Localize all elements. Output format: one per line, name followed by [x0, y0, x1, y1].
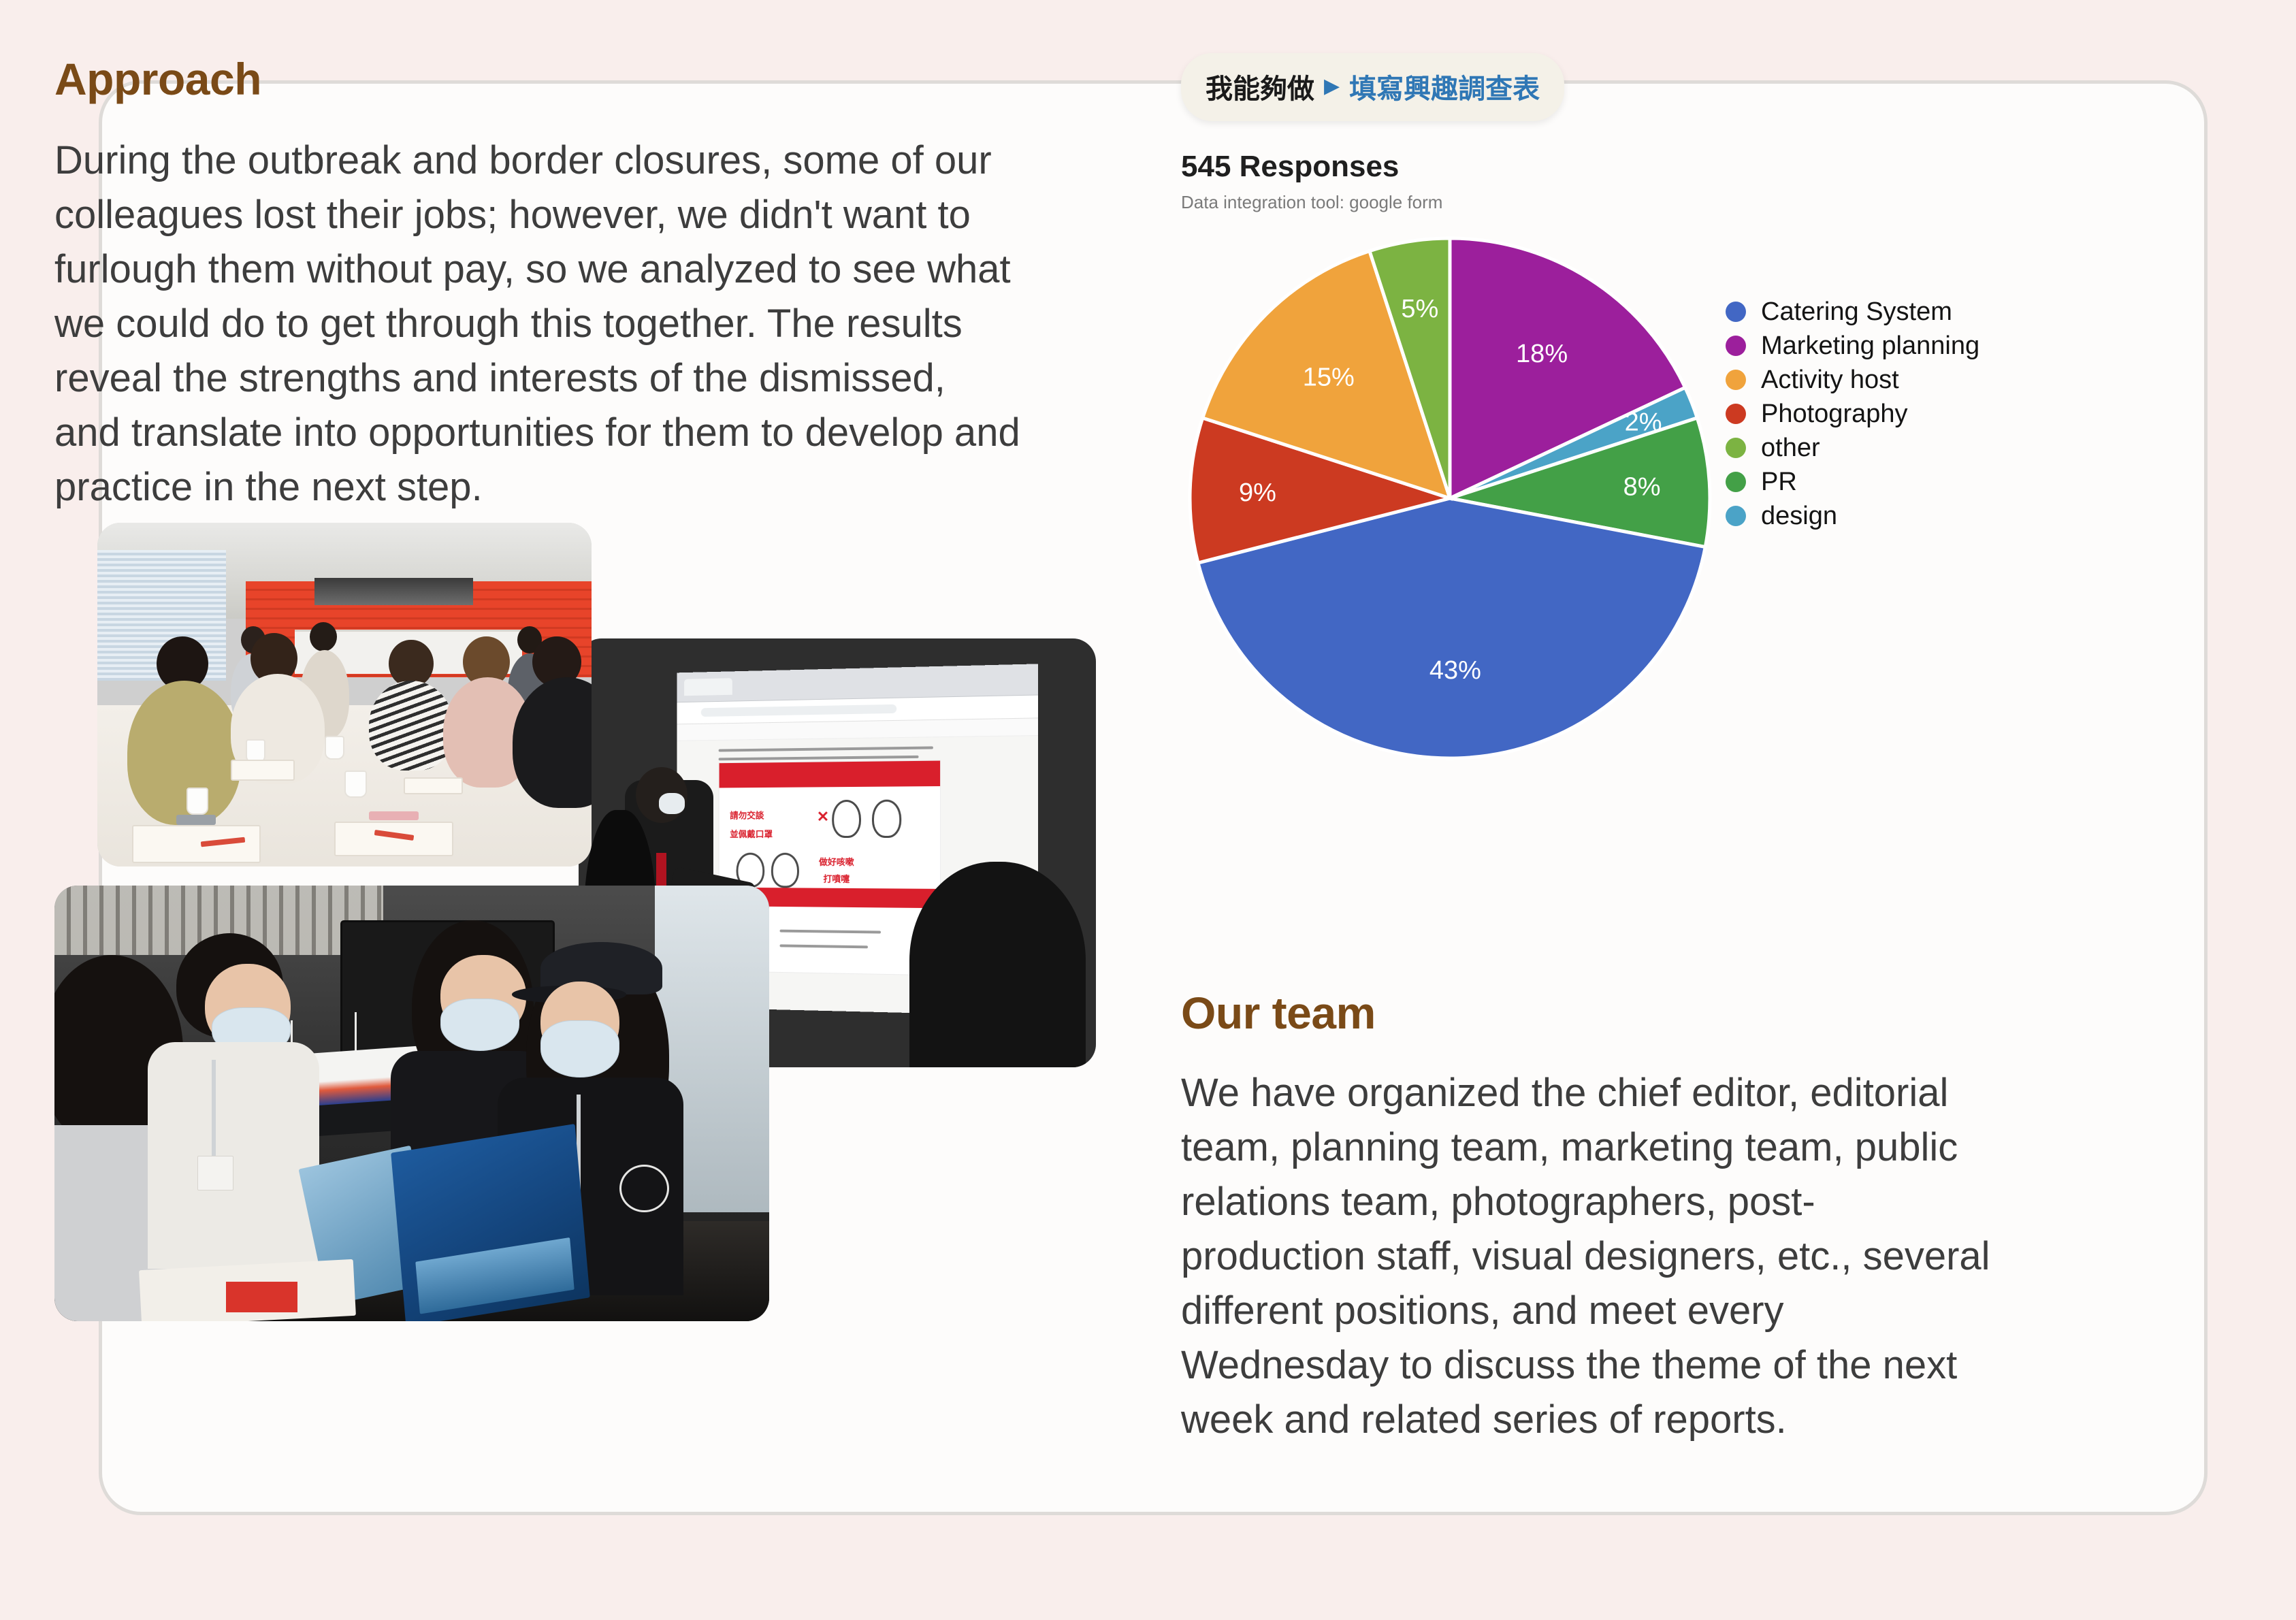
- pie-slice-label: 43%: [1429, 656, 1481, 685]
- photo-collage: 請勿交談 並佩戴口罩 ✕ 做好咳嗽 打噴嚏: [54, 496, 1157, 1346]
- team-meeting-photo: [97, 523, 592, 866]
- pie-slice-label: 15%: [1303, 363, 1355, 392]
- pie-slice-label: 9%: [1239, 479, 1276, 507]
- legend-label: Activity host: [1761, 366, 1899, 395]
- legend-label: Marketing planning: [1761, 331, 1979, 361]
- pie-slice-label: 5%: [1401, 295, 1438, 323]
- legend-item[interactable]: other: [1726, 431, 2046, 465]
- legend-label: PR: [1761, 468, 1797, 497]
- pie-chart-graphic: 18%2%8%43%9%15%5%: [1181, 229, 1719, 767]
- legend-label: Catering System: [1761, 297, 1952, 327]
- legend-color-dot: [1726, 336, 1746, 356]
- team-section: Our team We have organized the chief edi…: [1181, 987, 2025, 1447]
- play-triangle-icon: ▶: [1324, 76, 1340, 97]
- pie-slice-label: 2%: [1625, 408, 1662, 437]
- legend-color-dot: [1726, 438, 1746, 458]
- survey-section: 我能夠做 ▶ 填寫興趣調查表 545 Responses Data integr…: [1181, 53, 2059, 788]
- legend-item[interactable]: Catering System: [1726, 295, 2046, 329]
- legend-color-dot: [1726, 472, 1746, 492]
- legend-color-dot: [1726, 506, 1746, 526]
- pie-slice-label: 8%: [1623, 472, 1661, 501]
- legend-color-dot: [1726, 302, 1746, 322]
- legend-item[interactable]: design: [1726, 499, 2046, 533]
- legend-item[interactable]: PR: [1726, 465, 2046, 499]
- badge-prefix-label: 我能夠做: [1206, 67, 1314, 106]
- chart-legend: Catering SystemMarketing planningActivit…: [1726, 295, 2046, 533]
- survey-pie-chart: 18%2%8%43%9%15%5% Catering SystemMarketi…: [1181, 229, 2059, 788]
- legend-item[interactable]: Marketing planning: [1726, 329, 2046, 363]
- survey-badge[interactable]: 我能夠做 ▶ 填寫興趣調查表: [1181, 53, 1564, 121]
- approach-heading: Approach: [54, 53, 1076, 105]
- legend-label: design: [1761, 502, 1837, 531]
- data-source-subtitle: Data integration tool: google form: [1181, 192, 2059, 213]
- slide-canvas: Approach During the outbreak and border …: [0, 0, 2296, 1620]
- legend-label: other: [1761, 434, 1820, 463]
- approach-section: Approach During the outbreak and border …: [54, 53, 1076, 515]
- legend-color-dot: [1726, 404, 1746, 424]
- team-heading: Our team: [1181, 987, 2025, 1039]
- legend-item[interactable]: Photography: [1726, 397, 2046, 431]
- approach-body-text: During the outbreak and border closures,…: [54, 133, 1021, 515]
- pie-slice-label: 18%: [1516, 340, 1568, 368]
- ship-model-photo: [54, 886, 769, 1321]
- legend-label: Photography: [1761, 400, 1908, 429]
- responses-count-title: 545 Responses: [1181, 150, 2059, 184]
- legend-item[interactable]: Activity host: [1726, 363, 2046, 397]
- legend-color-dot: [1726, 370, 1746, 390]
- team-body-text: We have organized the chief editor, edit…: [1181, 1066, 1991, 1447]
- survey-form-link[interactable]: 填寫興趣調查表: [1349, 67, 1540, 106]
- pie-svg: 18%2%8%43%9%15%5%: [1181, 229, 1719, 767]
